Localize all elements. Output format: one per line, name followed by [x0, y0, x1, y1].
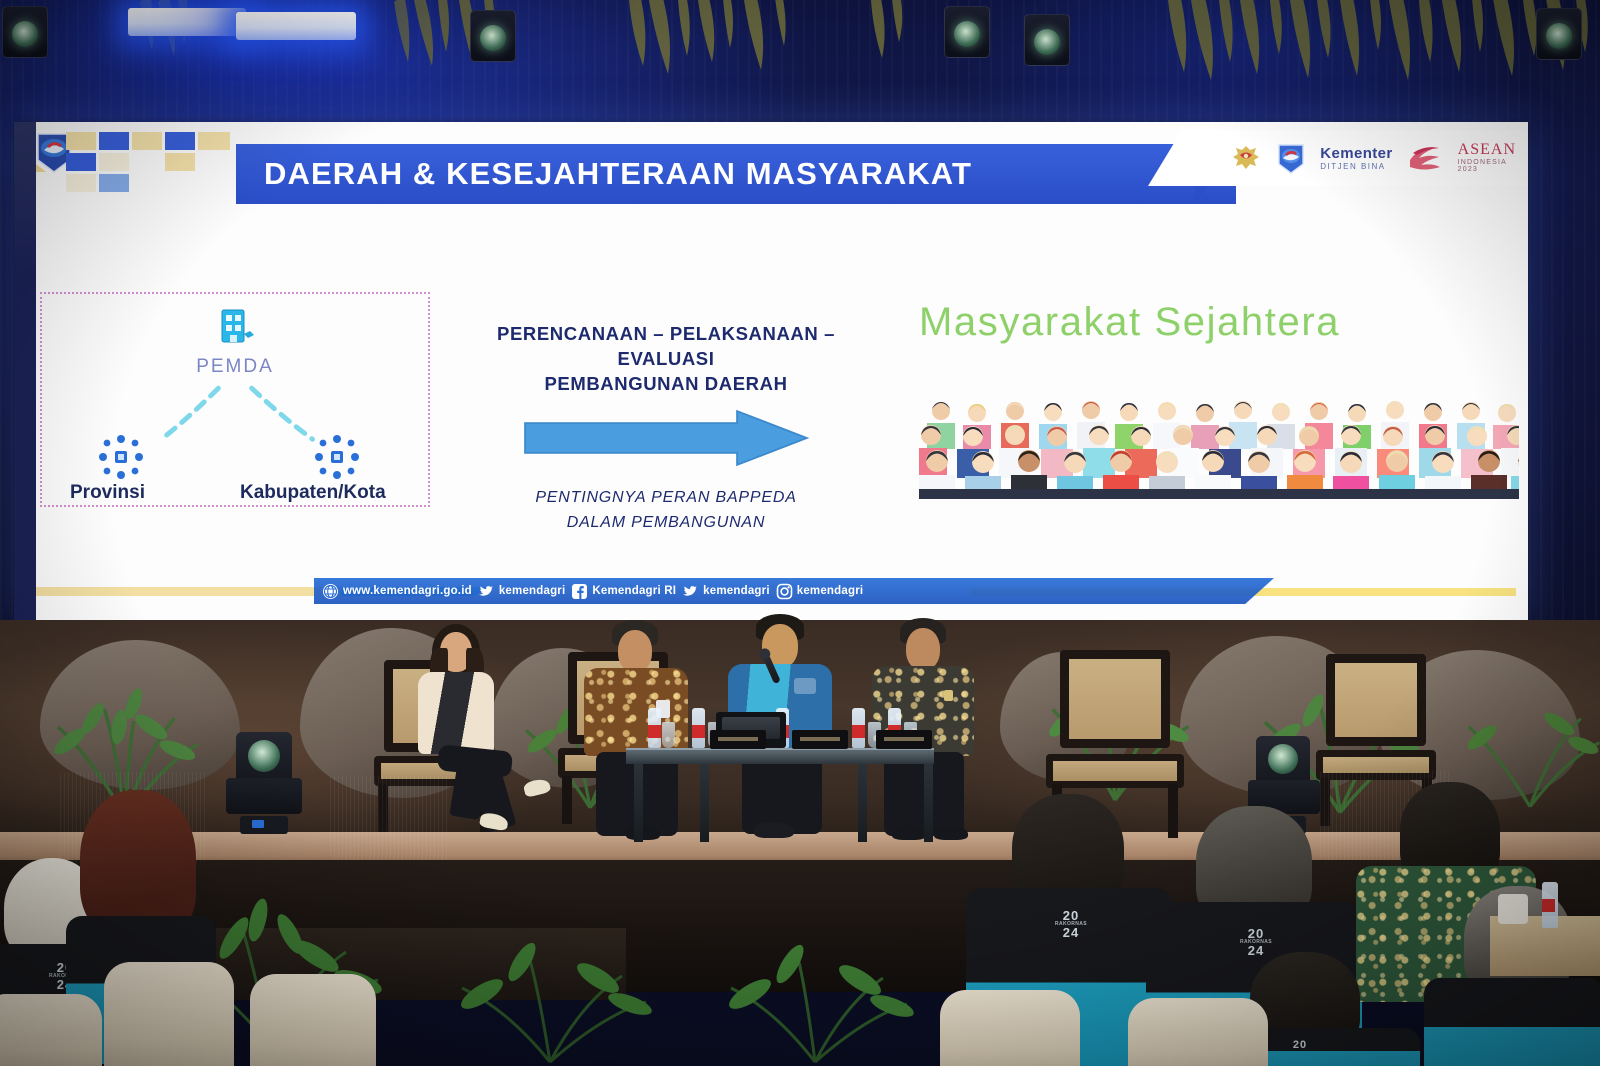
- masyarakat-sejahtera-heading: Masyarakat Sejahtera: [919, 300, 1519, 345]
- ministry-name-block: Kementer DITJEN BINA: [1320, 146, 1392, 171]
- cup: [1498, 894, 1528, 924]
- twitter-icon: [682, 583, 699, 600]
- twitter-icon: [478, 583, 495, 600]
- social-item-twitter-2: kemendagri: [682, 583, 770, 600]
- social-handle: www.kemendagri.go.id: [343, 585, 472, 597]
- vest-badge: [794, 678, 816, 694]
- social-handle: kemendagri: [797, 585, 864, 597]
- projection-screen: DAERAH & KESEJAHTERAAN MASYARAKAT Kement…: [14, 122, 1528, 622]
- water-bottle: [648, 708, 661, 748]
- kabupaten-kota-label: Kabupaten/Kota: [240, 482, 386, 504]
- slide-social-footer: www.kemendagri.go.id kemendagri Kemendag…: [314, 578, 1274, 604]
- name-plate: [876, 730, 932, 749]
- pemda-diagram: PEMDA Provinsi: [40, 292, 430, 507]
- kemendagri-shield-icon: [1276, 142, 1306, 174]
- chair-cover: [0, 994, 102, 1066]
- vest-logo: 20: [1293, 1040, 1307, 1050]
- moving-head-light-icon: [470, 10, 516, 62]
- chair-cover: [940, 990, 1080, 1066]
- social-handle: kemendagri: [703, 585, 770, 597]
- process-heading-line1: PERENCANAAN – PELAKSANAAN – EVALUASI: [446, 322, 886, 372]
- vest-logo: 20 RAKORNAS 24: [1055, 910, 1087, 939]
- audience-foreground: 20 RAKORNAS 24 20 RAKORNAS 24: [0, 780, 1600, 1066]
- bappeda-note-line2: DALAM PEMBANGUNAN: [446, 511, 886, 534]
- network-node-icon: [314, 434, 360, 480]
- lapel-pin: [944, 690, 953, 701]
- social-handle: kemendagri: [499, 585, 566, 597]
- panel-table: [626, 748, 934, 764]
- globe-icon: [322, 583, 339, 600]
- right-arrow-icon: [521, 409, 811, 467]
- moving-head-light-icon: [2, 6, 48, 58]
- slide-title: DAERAH & KESEJAHTERAAN MASYARAKAT: [236, 156, 972, 192]
- asean-year: 2023: [1458, 166, 1516, 173]
- slide-mosaic-decoration: [66, 132, 241, 194]
- slide-title-bar: DAERAH & KESEJAHTERAAN MASYARAKAT: [236, 144, 1236, 204]
- crowd-of-people-illustration: [919, 359, 1519, 499]
- moving-head-light-icon: [1024, 14, 1070, 66]
- garuda-emblem-icon: [1230, 143, 1262, 173]
- slide-cream-bar: [36, 587, 341, 596]
- moving-head-light-icon: [1536, 8, 1582, 60]
- social-handle: Kemendagri RI: [592, 585, 676, 597]
- moving-head-light-icon: [944, 6, 990, 58]
- social-item-website: www.kemendagri.go.id: [322, 583, 472, 600]
- asean-logo: ASEAN INDONESIA 2023: [1407, 142, 1516, 173]
- process-column: PERENCANAAN – PELAKSANAAN – EVALUASI PEM…: [446, 322, 886, 534]
- ministry-name: Kementer: [1320, 146, 1392, 161]
- chair-cover: [250, 974, 376, 1066]
- water-bottle: [1542, 882, 1558, 928]
- asean-swoosh-icon: [1407, 143, 1453, 173]
- water-bottle: [692, 708, 705, 748]
- social-item-facebook: Kemendagri RI: [571, 583, 676, 600]
- social-item-twitter-1: kemendagri: [478, 583, 566, 600]
- conference-photo: DAERAH & KESEJAHTERAAN MASYARAKAT Kement…: [0, 0, 1600, 1066]
- bappeda-note-line1: PENTINGNYA PERAN BAPPEDA: [446, 486, 886, 509]
- outcome-column: Masyarakat Sejahtera: [919, 300, 1519, 504]
- chair-cover: [104, 962, 234, 1066]
- ministry-unit: DITJEN BINA: [1320, 163, 1392, 171]
- facebook-icon: [571, 583, 588, 600]
- drinking-glass: [662, 722, 675, 748]
- slide-left-rail: [14, 122, 36, 622]
- instagram-icon: [776, 583, 793, 600]
- name-plate: [710, 730, 766, 749]
- network-node-icon: [98, 434, 144, 480]
- process-heading-line2: PEMBANGUNAN DAERAH: [446, 372, 886, 397]
- asean-title: ASEAN: [1458, 142, 1516, 159]
- social-item-instagram: kemendagri: [776, 583, 864, 600]
- chair-cover: [1128, 998, 1268, 1066]
- water-bottle: [852, 708, 865, 748]
- provinsi-label: Provinsi: [70, 482, 145, 504]
- asean-country: INDONESIA: [1458, 159, 1516, 166]
- led-stage-light: [128, 8, 246, 36]
- led-stage-light: [236, 12, 356, 40]
- slide-logo-band: Kementer DITJEN BINA ASEAN INDONESIA 202…: [1148, 130, 1528, 186]
- name-plate: [792, 730, 848, 749]
